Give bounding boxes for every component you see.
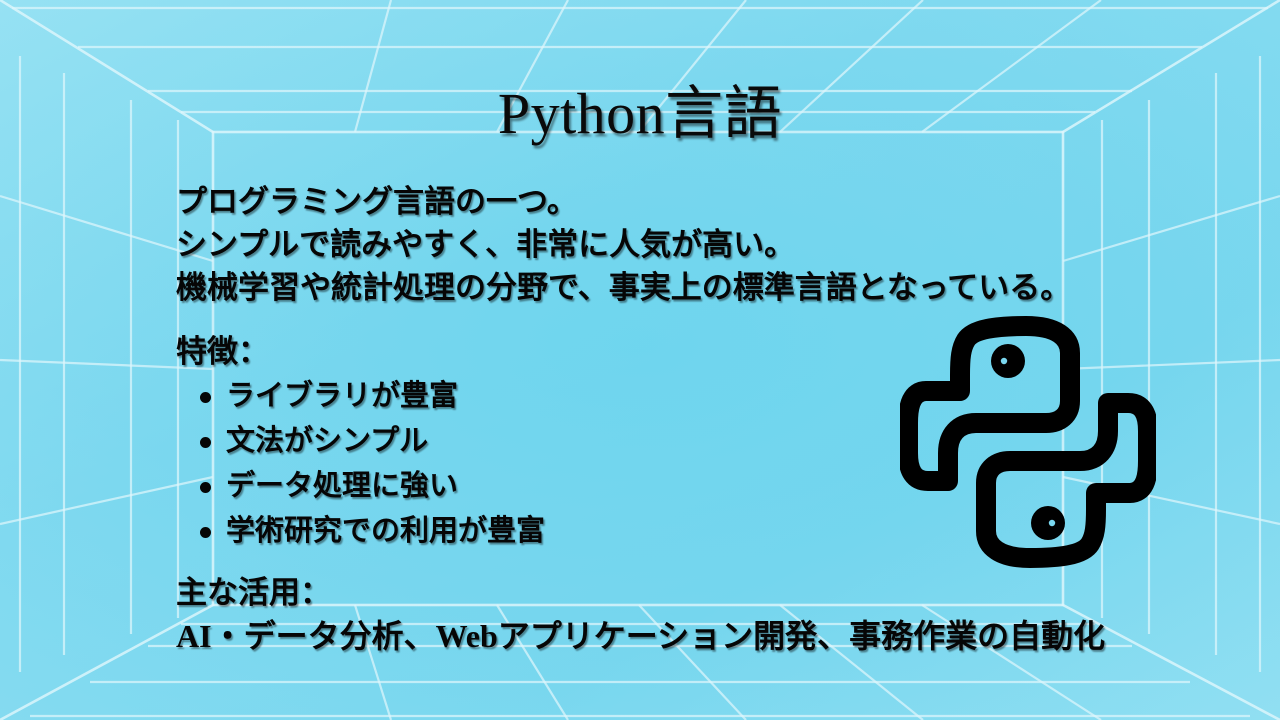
logo-eye-lower (1031, 506, 1065, 540)
list-item: ライブラリが豊富 (196, 378, 545, 423)
list-item-label: 文法がシンプル (226, 425, 428, 457)
features-list: ライブラリが豊富 文法がシンプル データ処理に強い 学術研究での利用が豊富 (196, 378, 545, 558)
intro-line-3: 機械学習や統計処理の分野で、事実上の標準言語となっている。 (176, 272, 1071, 303)
intro-line-2: シンプルで読みやすく、非常に人気が高い。 (176, 229, 795, 260)
list-item-label: ライブラリが豊富 (226, 380, 458, 412)
list-item: 文法がシンプル (196, 423, 545, 468)
bullet-dot-icon (200, 437, 211, 448)
features-heading: 特徴： (176, 336, 269, 367)
python-logo-icon (900, 313, 1156, 571)
list-item-label: データ処理に強い (226, 470, 458, 502)
presentation-slide: Python言語 プログラミング言語の一つ。 シンプルで読みやすく、非常に人気が… (0, 0, 1280, 720)
bullet-dot-icon (200, 392, 211, 403)
slide-content: Python言語 プログラミング言語の一つ。 シンプルで読みやすく、非常に人気が… (0, 0, 1280, 720)
list-item-label: 学術研究での利用が豊富 (226, 515, 545, 547)
intro-line-1: プログラミング言語の一つ。 (176, 186, 578, 217)
bullet-dot-icon (200, 482, 211, 493)
list-item: データ処理に強い (196, 468, 545, 513)
usage-body: AI・データ分析、Webアプリケーション開発、事務作業の自動化 (176, 620, 1105, 652)
bullet-dot-icon (200, 527, 211, 538)
page-title: Python言語 (0, 84, 1280, 145)
list-item: 学術研究での利用が豊富 (196, 513, 545, 558)
usage-heading: 主な活用： (176, 577, 331, 608)
logo-eye-upper (991, 344, 1025, 378)
